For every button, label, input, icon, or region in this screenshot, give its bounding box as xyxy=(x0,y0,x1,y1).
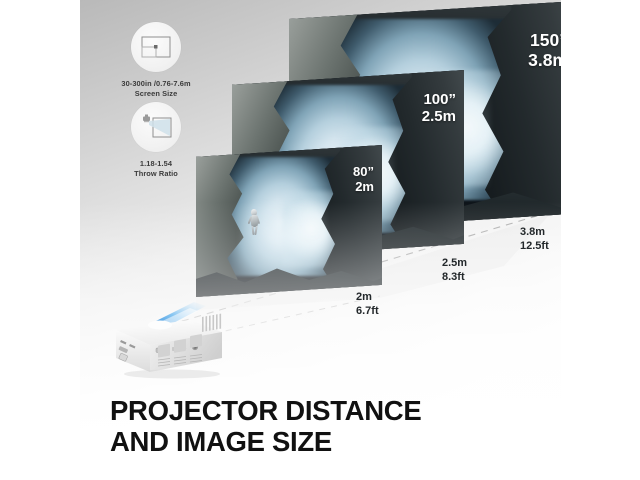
title-line-2: AND IMAGE SIZE xyxy=(110,427,550,458)
distance-callout-3-8m: 3.8m 12.5ft xyxy=(520,226,549,254)
distance-metric: 2m xyxy=(356,291,379,305)
screen-label-150: 150” 3.8m xyxy=(528,31,561,70)
screen-label-100: 100” 2.5m xyxy=(422,92,456,126)
spec-line-2: Throw Ratio xyxy=(102,169,210,179)
product-infographic: 150” 3.8m 100” 2.5 xyxy=(0,0,640,480)
infographic-panel: 150” 3.8m 100” 2.5 xyxy=(80,0,561,480)
screen-size-100: 100” xyxy=(422,92,456,109)
page-title: PROJECTOR DISTANCE AND IMAGE SIZE xyxy=(110,396,550,458)
screen-distance-100: 2.5m xyxy=(422,109,456,126)
spec-line-1: 1.18-1.54 xyxy=(102,159,210,169)
spec-throw-ratio: 1.18-1.54 Throw Ratio xyxy=(102,102,210,179)
throw-ratio-icon xyxy=(131,102,181,152)
screen-label-80: 80” 2m xyxy=(353,165,374,194)
distance-imperial: 6.7ft xyxy=(356,305,379,319)
distance-imperial: 12.5ft xyxy=(520,240,549,254)
screen-size-icon xyxy=(131,22,181,72)
screen-size-80: 80” xyxy=(353,165,374,180)
projector-device[interactable] xyxy=(94,300,228,380)
screen-distance-150: 3.8m xyxy=(528,51,561,71)
screen-distance-80: 2m xyxy=(353,180,374,195)
distance-callout-2-5m: 2.5m 8.3ft xyxy=(442,257,467,285)
distance-callout-2m: 2m 6.7ft xyxy=(356,291,379,319)
distance-metric: 2.5m xyxy=(442,257,467,271)
title-line-1: PROJECTOR DISTANCE xyxy=(110,396,550,427)
distance-metric: 3.8m xyxy=(520,226,549,240)
screen-size-150: 150” xyxy=(528,31,561,51)
distance-imperial: 8.3ft xyxy=(442,271,467,285)
spec-screen-size: 30-300in /0.76-7.6m Screen Size xyxy=(102,22,210,99)
spec-line-2: Screen Size xyxy=(102,89,210,99)
spec-line-1: 30-300in /0.76-7.6m xyxy=(102,79,210,89)
